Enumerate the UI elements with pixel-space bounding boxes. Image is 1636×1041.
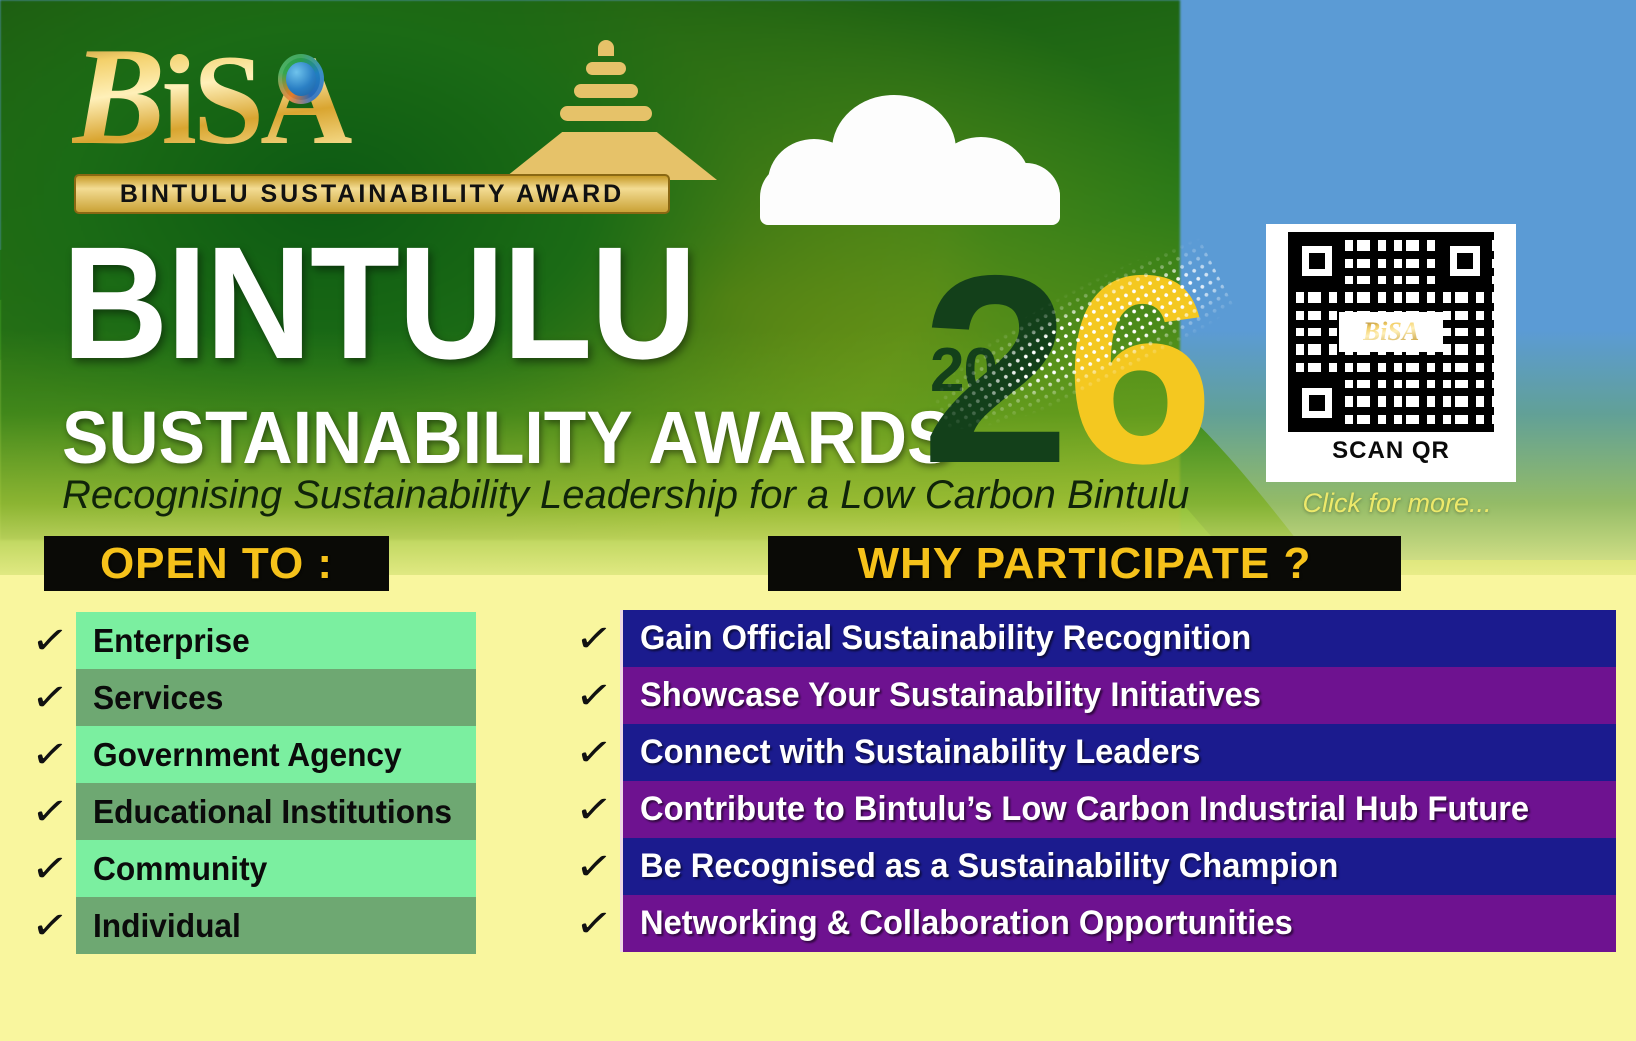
list-item-label: Educational Institutions <box>93 793 452 831</box>
scan-qr-label: SCAN QR <box>1332 437 1450 465</box>
list-item-label: Enterprise <box>93 622 250 660</box>
open-to-row-4: Educational Institutions <box>76 783 476 840</box>
section-header-why-participate: WHY PARTICIPATE ? <box>768 536 1401 591</box>
globe-icon <box>278 54 324 104</box>
check-icon: ✓ <box>19 903 80 948</box>
section-header-open-to-text: OPEN TO : <box>100 539 333 589</box>
check-icon: ✓ <box>563 844 624 889</box>
logo-letter-s: S <box>193 29 260 171</box>
list-item: ✓Enterprise <box>24 612 476 669</box>
qr-code-card[interactable]: BiSA SCAN QR <box>1266 224 1516 482</box>
list-item: ✓Connect with Sustainability Leaders <box>568 724 1616 781</box>
check-icon: ✓ <box>19 846 80 891</box>
list-item: ✓Educational Institutions <box>24 783 476 840</box>
open-to-row-5: Community <box>76 840 476 897</box>
check-icon: ✓ <box>563 673 624 718</box>
qr-embedded-logo: BiSA <box>1339 312 1443 352</box>
page-subtitle: SUSTAINABILITY AWARDS <box>62 395 953 480</box>
check-icon: ✓ <box>19 675 80 720</box>
why-participate-row-6: Networking & Collaboration Opportunities <box>620 895 1616 952</box>
list-item-label: Networking & Collaboration Opportunities <box>640 904 1293 943</box>
why-participate-row-1: Gain Official Sustainability Recognition <box>620 610 1616 667</box>
year-prefix-20: 20 <box>930 335 997 406</box>
list-item: ✓Government Agency <box>24 726 476 783</box>
bisa-logo: BiSA BINTULU SUSTAINABILITY AWARD <box>72 22 672 217</box>
list-item-label: Services <box>93 679 223 717</box>
year-2026: 2 6 20 <box>915 235 1215 500</box>
check-icon: ✓ <box>19 732 80 777</box>
why-participate-row-2: Showcase Your Sustainability Initiatives <box>620 667 1616 724</box>
qr-embedded-logo-text: BiSA <box>1363 317 1419 347</box>
open-to-row-6: Individual <box>76 897 476 954</box>
why-participate-list: ✓Gain Official Sustainability Recognitio… <box>568 610 1616 952</box>
list-item: ✓Services <box>24 669 476 726</box>
list-item: ✓Individual <box>24 897 476 954</box>
logo-badge-text: BINTULU SUSTAINABILITY AWARD <box>120 180 624 209</box>
list-item-label: Contribute to Bintulu’s Low Carbon Indus… <box>640 790 1529 829</box>
check-icon: ✓ <box>563 730 624 775</box>
list-item: ✓Gain Official Sustainability Recognitio… <box>568 610 1616 667</box>
section-header-open-to: OPEN TO : <box>44 536 389 591</box>
why-participate-row-5: Be Recognised as a Sustainability Champi… <box>620 838 1616 895</box>
check-icon: ✓ <box>563 787 624 832</box>
list-item: ✓Be Recognised as a Sustainability Champ… <box>568 838 1616 895</box>
open-to-row-1: Enterprise <box>76 612 476 669</box>
check-icon: ✓ <box>563 901 624 946</box>
list-item-label: Government Agency <box>93 736 402 774</box>
section-header-why-participate-text: WHY PARTICIPATE ? <box>858 539 1312 589</box>
qr-code-image[interactable]: BiSA <box>1288 232 1494 432</box>
list-item: ✓Community <box>24 840 476 897</box>
list-item: ✓Contribute to Bintulu’s Low Carbon Indu… <box>568 781 1616 838</box>
logo-letter-b: B <box>72 19 161 174</box>
click-for-more-link[interactable]: Click for more... <box>1290 488 1504 519</box>
tower-icon <box>502 40 717 180</box>
check-icon: ✓ <box>19 618 80 663</box>
year-digit-6: 6 <box>1065 240 1204 498</box>
why-participate-row-3: Connect with Sustainability Leaders <box>620 724 1616 781</box>
list-item-label: Showcase Your Sustainability Initiatives <box>640 676 1261 715</box>
list-item-label: Gain Official Sustainability Recognition <box>640 619 1251 658</box>
list-item-label: Connect with Sustainability Leaders <box>640 733 1200 772</box>
open-to-row-2: Services <box>76 669 476 726</box>
why-participate-row-4: Contribute to Bintulu’s Low Carbon Indus… <box>620 781 1616 838</box>
list-item-label: Community <box>93 850 267 888</box>
open-to-row-3: Government Agency <box>76 726 476 783</box>
cloud-icon <box>760 95 1060 225</box>
list-item-label: Be Recognised as a Sustainability Champi… <box>640 847 1338 886</box>
list-item: ✓Showcase Your Sustainability Initiative… <box>568 667 1616 724</box>
list-item-label: Individual <box>93 907 241 945</box>
open-to-list: ✓Enterprise✓Services✓Government Agency✓E… <box>24 612 476 954</box>
list-item: ✓Networking & Collaboration Opportunitie… <box>568 895 1616 952</box>
logo-badge: BINTULU SUSTAINABILITY AWARD <box>74 174 670 214</box>
poster-root: BiSA BINTULU SUSTAINABILITY AWARD BINTUL… <box>0 0 1636 1041</box>
check-icon: ✓ <box>563 616 624 661</box>
page-title: BINTULU <box>62 228 695 378</box>
check-icon: ✓ <box>19 789 80 834</box>
logo-letter-i: i <box>161 29 193 171</box>
